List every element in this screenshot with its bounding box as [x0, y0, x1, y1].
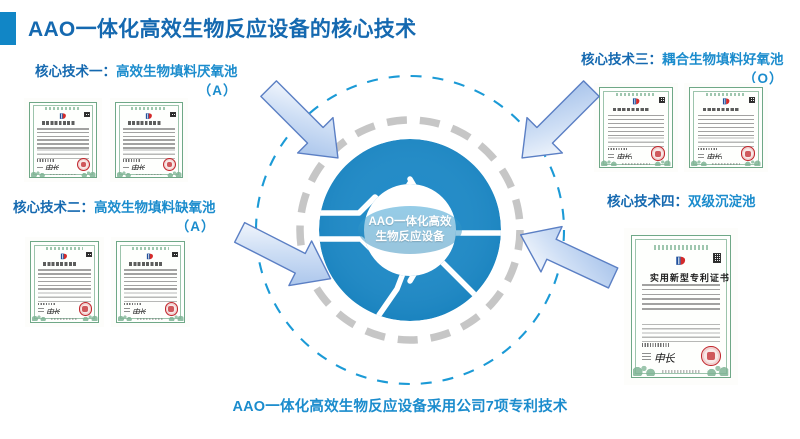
certificate-frame: 实用新型专利证书 申长雨: [631, 235, 730, 378]
certificate-title-text: 实用新型专利证书: [650, 271, 712, 284]
certificate-barcode: [698, 148, 718, 150]
certificate-corner-ornament: [655, 156, 671, 166]
certificate-top-ornament: [654, 245, 708, 251]
certificate-barcode: [38, 303, 57, 305]
qr-code-icon: [713, 253, 721, 263]
patent-logo-icon: [60, 252, 69, 261]
certificate-signature: 申长雨: [654, 350, 675, 363]
arrow-icon: [500, 68, 612, 180]
certificate-corner-ornament: [31, 167, 45, 177]
certificate-corner-ornament: [745, 156, 761, 166]
certificate-top-ornament: [45, 107, 82, 110]
tech-label-4-rest: 双级沉淀池: [688, 194, 756, 209]
certificate-paragraph: [124, 292, 177, 302]
qr-code-icon: [172, 252, 178, 258]
certificate-title: [128, 121, 170, 124]
qr-code-icon: [86, 252, 92, 258]
certificate-footer-line: [51, 318, 78, 320]
tech-label-4: 核心技术四：双级沉淀池: [607, 192, 756, 211]
certificate-barcode: [37, 159, 55, 161]
patent-certificate[interactable]: 申长雨: [110, 98, 188, 182]
certificate-footer-line: [136, 174, 162, 175]
certificate-signature: 申长雨: [131, 163, 145, 170]
arrow-icon: [248, 68, 360, 180]
certificate-corner-ornament: [167, 167, 181, 177]
certificate-frame: 申长雨: [29, 102, 97, 178]
tech-label-2: 核心技术二：高效生物填料缺氧池 （A）: [13, 198, 216, 236]
footer-caption: AAO一体化高效生物反应设备采用公司7项专利技术: [0, 395, 800, 416]
certificate-signature: 申长雨: [616, 152, 632, 159]
patent-logo-icon: [146, 252, 155, 261]
certificate-signature: 申长雨: [706, 152, 722, 159]
certificate-frame: 申长雨: [30, 241, 99, 323]
certificate-signature: 申长雨: [45, 163, 59, 170]
certificate-corner-ornament: [707, 357, 728, 375]
certificate-corner-ornament: [32, 311, 47, 321]
patent-logo-icon: [145, 112, 154, 120]
arrow-icon: [508, 198, 624, 314]
qr-code-icon: [659, 97, 665, 103]
title-accent-bar: [0, 12, 16, 45]
tech-label-1-rest: 高效生物填料厌氧池: [116, 64, 238, 79]
certificate-title: [42, 121, 84, 124]
certificate-frame: 申长雨: [115, 102, 183, 178]
certificate-barcode: [642, 343, 669, 347]
tech-label-2-sub: （A）: [13, 217, 216, 236]
certificate-title: [703, 108, 749, 112]
certificate-corner-ornament: [83, 311, 98, 321]
tech-label-3-key: 核心技术三：: [581, 52, 662, 67]
patent-certificate[interactable]: 申长雨: [684, 83, 768, 172]
certificate-title: [43, 262, 86, 266]
certificate-title: [129, 262, 172, 266]
certificate-footer-line: [137, 318, 164, 320]
certificate-signature: 申长雨: [132, 307, 147, 314]
slide-canvas: AAO一体化高效生物反应设备的核心技术 核心技术一：高效生物填料厌氧池 （A） …: [0, 0, 800, 439]
tech-label-3-rest: 耦合生物填料好氧池: [662, 52, 784, 67]
qr-code-icon: [84, 112, 90, 117]
certificate-footer-line: [50, 174, 76, 175]
qr-code-icon: [170, 112, 176, 117]
certificate-paragraph: [642, 323, 720, 341]
qr-code-icon: [749, 97, 755, 103]
certificate-corner-ornament: [691, 156, 707, 166]
certificate-top-ornament: [706, 93, 746, 96]
certificate-corner-ornament: [118, 311, 133, 321]
tech-label-2-rest: 高效生物填料缺氧池: [94, 200, 216, 215]
certificate-corner-ornament: [169, 311, 184, 321]
certificate-top-ornament: [132, 247, 169, 250]
certificate-barcode: [124, 303, 143, 305]
certificate-paragraph: [38, 292, 91, 302]
patent-certificate[interactable]: 申长雨: [25, 237, 104, 327]
page-title: AAO一体化高效生物反应设备的核心技术: [28, 13, 416, 43]
tech-label-2-key: 核心技术二：: [13, 200, 94, 215]
certificate-top-ornament: [131, 107, 168, 110]
patent-logo-icon: [632, 97, 641, 106]
certificate-frame: 申长雨: [689, 87, 762, 168]
arrow-icon: [228, 198, 344, 314]
certificate-footer-line: [622, 163, 650, 165]
certificate-corner-ornament: [633, 357, 654, 375]
certificate-top-ornament: [616, 93, 656, 96]
certificate-signature: 申长雨: [46, 307, 61, 314]
certificate-corner-ornament: [81, 167, 95, 177]
patent-certificate[interactable]: 申长雨: [24, 98, 102, 182]
tech-label-1-key: 核心技术一：: [35, 64, 116, 79]
certificate-corner-ornament: [117, 167, 131, 177]
certificate-footer-line: [712, 163, 740, 165]
patent-certificate-large[interactable]: 实用新型专利证书 申长雨: [624, 228, 738, 385]
patent-logo-icon: [675, 253, 688, 268]
certificate-barcode: [123, 159, 141, 161]
patent-certificate[interactable]: 申长雨: [111, 237, 190, 327]
certificate-footer-line: [662, 370, 701, 373]
certificate-top-ornament: [46, 247, 83, 250]
certificate-frame: 申长雨: [116, 241, 185, 323]
patent-logo-icon: [59, 112, 68, 120]
certificate-title: [613, 108, 659, 112]
patent-logo-icon: [722, 97, 731, 106]
tech-label-1: 核心技术一：高效生物填料厌氧池 （A）: [35, 62, 238, 100]
